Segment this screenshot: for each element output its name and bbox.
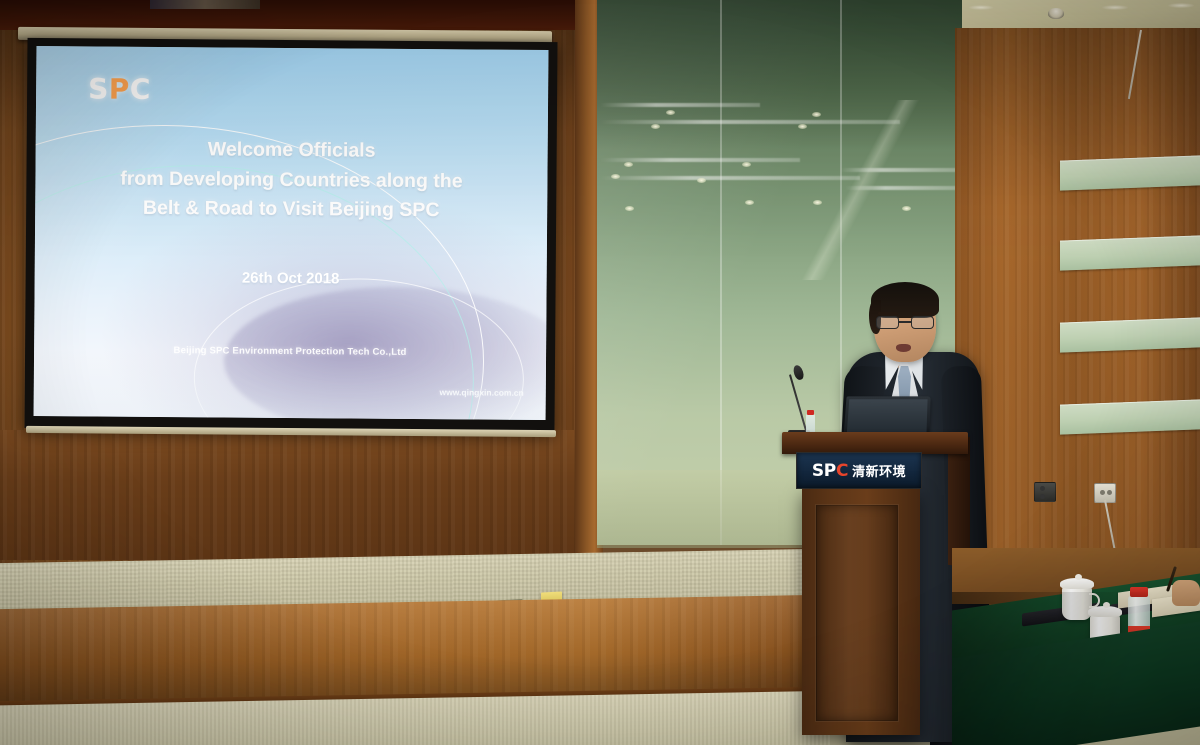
ceiling-light-reflection xyxy=(611,174,620,179)
eyeglasses-icon xyxy=(876,316,934,330)
ceiling-light-reflection xyxy=(697,178,706,183)
power-outlet-icon[interactable] xyxy=(1034,482,1056,502)
podium-nameplate: SPC 清新环境 xyxy=(796,452,922,489)
wall-glass-strip xyxy=(1060,317,1200,352)
podium-logo-sp: SP xyxy=(812,461,836,481)
glass-reflection xyxy=(600,103,760,107)
wall-glass-strip xyxy=(1060,399,1200,434)
ceiling-light-reflection xyxy=(813,200,822,205)
logo-letter-s: S xyxy=(88,72,109,105)
ceiling-light-reflection xyxy=(624,162,633,167)
smoke-detector-icon xyxy=(1048,8,1064,19)
slide-title-line-3: Belt & Road to Visit Beijing SPC xyxy=(47,193,535,226)
ceiling-light-reflection xyxy=(745,200,754,205)
ceiling-light-reflection xyxy=(742,162,751,167)
logo-letter-c: C xyxy=(130,73,151,106)
podium-logo-c: C xyxy=(836,461,848,481)
glass-reflection xyxy=(845,186,960,190)
podium-top xyxy=(782,432,968,454)
podium-front-panel xyxy=(816,505,898,721)
slide-website-url: www.qingxin.com.cn xyxy=(439,387,523,398)
wall-glass-strip xyxy=(1060,155,1200,190)
wall-artwork xyxy=(150,0,260,9)
ceiling-light xyxy=(1168,3,1194,8)
spc-logo: SPC xyxy=(88,72,151,105)
ceiling-light xyxy=(1102,5,1128,10)
conference-photo: SPC Welcome Officials from Developing Co… xyxy=(0,0,1200,745)
ceiling-light-reflection xyxy=(666,110,675,115)
slide-title: Welcome Officials from Developing Countr… xyxy=(35,134,548,227)
slide-title-line-1: Welcome Officials xyxy=(48,134,536,167)
wood-wall-lower-band xyxy=(0,430,600,560)
teacup[interactable] xyxy=(1062,586,1092,620)
glass-reflection xyxy=(840,168,960,172)
ceiling-light-reflection xyxy=(625,206,634,211)
wall-glass-strip xyxy=(1060,235,1200,270)
glass-reflection xyxy=(600,120,900,124)
speaker-eyebrow xyxy=(878,312,898,315)
upper-dark-wall xyxy=(0,0,600,30)
attendee-hand xyxy=(1172,580,1200,606)
slide-title-line-2: from Developing Countries along the xyxy=(47,164,535,197)
ceiling-light-reflection xyxy=(651,124,660,129)
podium-body xyxy=(802,489,920,735)
logo-letter-p: P xyxy=(109,73,130,106)
ceiling-light-reflection xyxy=(812,112,821,117)
speaker-eyebrow xyxy=(912,312,932,315)
projection-screen: SPC Welcome Officials from Developing Co… xyxy=(24,38,557,432)
glass-mullion xyxy=(720,0,722,545)
podium-logo-spc: SPC xyxy=(812,461,848,481)
glass-reflection xyxy=(600,176,860,180)
speaker-mouth xyxy=(896,344,911,352)
ceiling-light xyxy=(968,5,994,10)
ceiling-light-reflection xyxy=(902,206,911,211)
presentation-slide: SPC Welcome Officials from Developing Co… xyxy=(34,46,549,420)
ceiling-light-reflection xyxy=(798,124,807,129)
podium-logo-chinese: 清新环境 xyxy=(852,461,906,480)
